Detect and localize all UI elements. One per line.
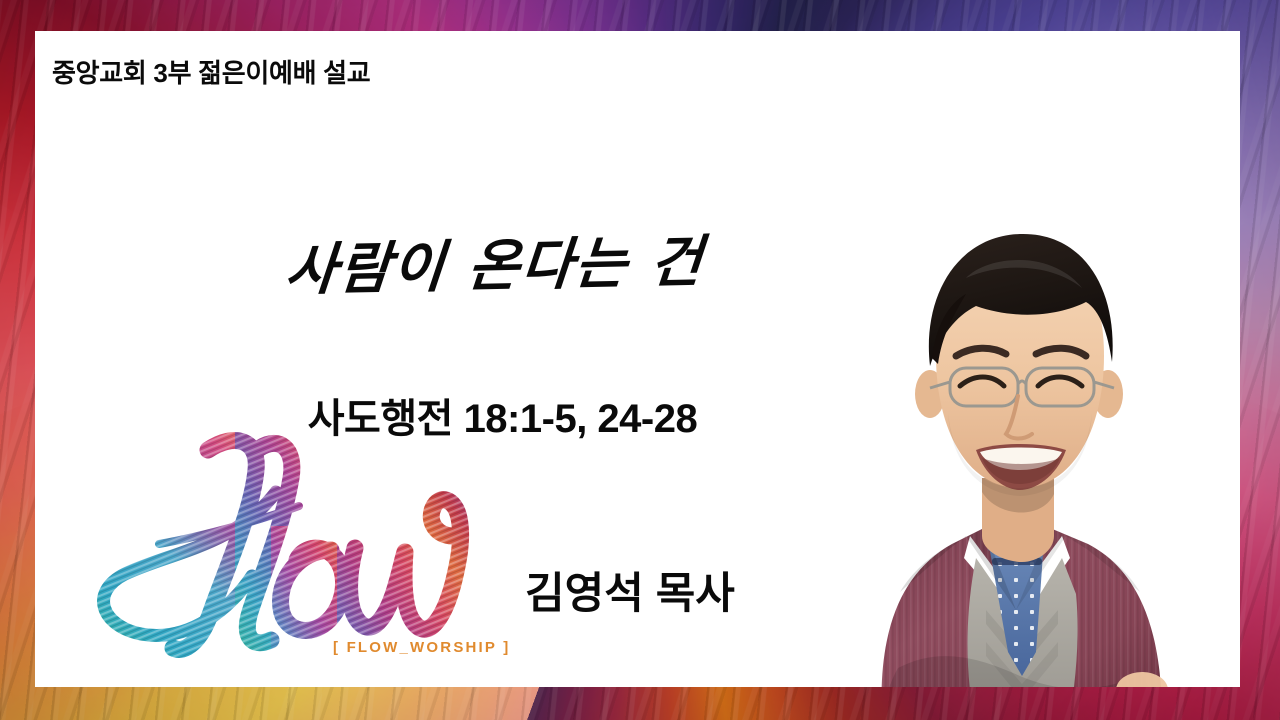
content-card: 중앙교회 3부 젊은이예배 설교 사람이 온다는 건 사도행전 18:1-5, … [35,31,1240,687]
flow-worship-subtitle: [ FLOW_WORSHIP ] [333,639,510,656]
speaker-photo [770,206,1240,687]
slide-header-text: 중앙교회 3부 젊은이예배 설교 [52,53,370,90]
sermon-title-slide: 중앙교회 3부 젊은이예배 설교 사람이 온다는 건 사도행전 18:1-5, … [0,0,1280,720]
speaker-name: 김영석 목사 [480,559,780,621]
flow-worship-logo: [ FLOW_WORSHIP ] [85,426,515,676]
sermon-title: 사람이 온다는 건 [276,217,714,307]
speaker-portrait [770,206,1240,687]
